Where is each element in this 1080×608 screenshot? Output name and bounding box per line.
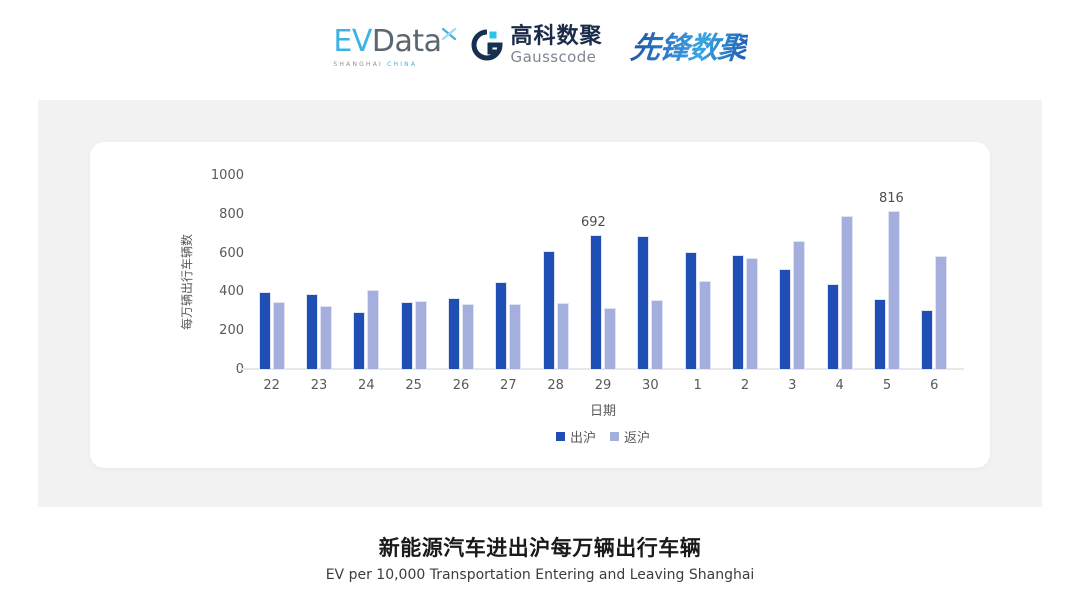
x-axis-tick-label: 6 — [911, 378, 958, 393]
y-axis-title: 每万辆出行车辆数 — [178, 177, 196, 387]
bar-fanhu[interactable] — [273, 302, 285, 369]
bar-fanhu[interactable] — [746, 258, 758, 369]
bar-chuhu[interactable] — [921, 310, 933, 369]
x-axis-tick-label: 29 — [579, 378, 626, 393]
bar-chuhu[interactable] — [874, 299, 886, 369]
bar-group — [295, 175, 342, 369]
caption-chinese: 新能源汽车进出沪每万辆出行车辆 — [0, 532, 1080, 562]
evdata-x-icon — [441, 18, 457, 34]
bar-chuhu[interactable] — [685, 252, 697, 369]
x-axis-tick-label: 26 — [437, 378, 484, 393]
bar-group — [911, 175, 958, 369]
gausscode-en-text: Gausscode — [511, 50, 603, 65]
bar-chuhu[interactable] — [401, 302, 413, 369]
bar-fanhu[interactable] — [841, 216, 853, 369]
bar-group — [674, 175, 721, 369]
bar-fanhu[interactable] — [320, 306, 332, 369]
bar-group — [769, 175, 816, 369]
evdata-tagline: SHANGHAI CHINA — [333, 61, 417, 68]
x-axis-tick-label: 22 — [248, 378, 295, 393]
gausscode-logo: 高科数聚 Gausscode — [470, 26, 603, 65]
bar-group — [390, 175, 437, 369]
bar-group — [579, 175, 626, 369]
gausscode-mark-icon — [470, 28, 504, 62]
bar-group — [437, 175, 484, 369]
y-axis-tick-label: 0 — [200, 363, 244, 376]
x-axis-tick-label: 25 — [390, 378, 437, 393]
plot-area — [248, 175, 958, 369]
bar-chuhu[interactable] — [353, 312, 365, 369]
bar-chuhu[interactable] — [779, 269, 791, 369]
caption-english: EV per 10,000 Transportation Entering an… — [0, 567, 1080, 583]
bar-chuhu[interactable] — [543, 251, 555, 369]
x-axis-tick-label: 24 — [343, 378, 390, 393]
bar-fanhu[interactable] — [888, 211, 900, 369]
x-axis-title: 日期 — [248, 400, 958, 419]
bar-fanhu[interactable] — [793, 241, 805, 369]
legend-label: 出沪 — [570, 427, 596, 446]
bar-group — [816, 175, 863, 369]
y-axis-tick-label: 200 — [200, 324, 244, 337]
bar-chuhu[interactable] — [495, 282, 507, 369]
bar-group — [627, 175, 674, 369]
bar-chuhu[interactable] — [827, 284, 839, 369]
x-axis-tick-label: 4 — [816, 378, 863, 393]
bar-chuhu[interactable] — [259, 292, 271, 369]
bar-fanhu[interactable] — [509, 304, 521, 369]
bar-group — [721, 175, 768, 369]
x-axis-tick-label: 27 — [485, 378, 532, 393]
logo-bar: EVData SHANGHAI CHINA 高科数聚 Gausscode 先锋数… — [0, 14, 1080, 76]
bar-value-label: 816 — [879, 191, 904, 206]
bar-chuhu[interactable] — [306, 294, 318, 369]
evdata-logo: EVData SHANGHAI CHINA — [333, 23, 441, 68]
bar-chart: 每万辆出行车辆数 10008006004002000 日期 出沪返沪 22232… — [90, 142, 990, 468]
x-axis-tick-label: 30 — [627, 378, 674, 393]
y-axis-ticks: 10008006004002000 — [200, 142, 244, 468]
x-axis-tick-label: 5 — [863, 378, 910, 393]
gausscode-wordmark: 高科数聚 Gausscode — [511, 26, 603, 65]
xianfeng-logo: 先锋数聚 — [628, 23, 749, 67]
legend-swatch — [556, 432, 565, 441]
bar-group — [248, 175, 295, 369]
x-axis-tick-label: 2 — [721, 378, 768, 393]
evdata-tagline-city: SHANGHAI — [333, 61, 383, 68]
evdata-wordmark: EVData — [333, 27, 441, 57]
bar-fanhu[interactable] — [557, 303, 569, 369]
evdata-ev-text: EV — [333, 24, 371, 59]
y-axis-tick-label: 800 — [200, 208, 244, 221]
bar-fanhu[interactable] — [604, 308, 616, 369]
evdata-tagline-country: CHINA — [387, 61, 417, 68]
y-axis-tick-label: 400 — [200, 285, 244, 298]
x-axis-tick-label: 1 — [674, 378, 721, 393]
legend-swatch — [610, 432, 619, 441]
bar-chuhu[interactable] — [732, 255, 744, 369]
bar-group — [485, 175, 532, 369]
x-axis-tick-label: 3 — [769, 378, 816, 393]
bar-chuhu[interactable] — [448, 298, 460, 369]
x-axis-tick-label: 23 — [295, 378, 342, 393]
gausscode-cn-text: 高科数聚 — [511, 26, 603, 48]
bar-fanhu[interactable] — [367, 290, 379, 369]
x-axis-tick-label: 28 — [532, 378, 579, 393]
legend-label: 返沪 — [624, 427, 650, 446]
chart-legend: 出沪返沪 — [248, 427, 958, 446]
bar-chuhu[interactable] — [590, 235, 602, 369]
bar-group — [532, 175, 579, 369]
y-axis-tick-label: 600 — [200, 247, 244, 260]
bar-group — [343, 175, 390, 369]
y-axis-tick-label: 1000 — [200, 169, 244, 182]
bar-value-label: 692 — [581, 215, 606, 230]
bar-fanhu[interactable] — [415, 301, 427, 369]
evdata-data-text: Data — [372, 24, 442, 59]
legend-item[interactable]: 出沪 — [556, 427, 596, 446]
legend-item[interactable]: 返沪 — [610, 427, 650, 446]
bar-fanhu[interactable] — [699, 281, 711, 369]
bar-chuhu[interactable] — [637, 236, 649, 369]
bar-fanhu[interactable] — [935, 256, 947, 369]
bar-fanhu[interactable] — [462, 304, 474, 369]
bar-fanhu[interactable] — [651, 300, 663, 369]
